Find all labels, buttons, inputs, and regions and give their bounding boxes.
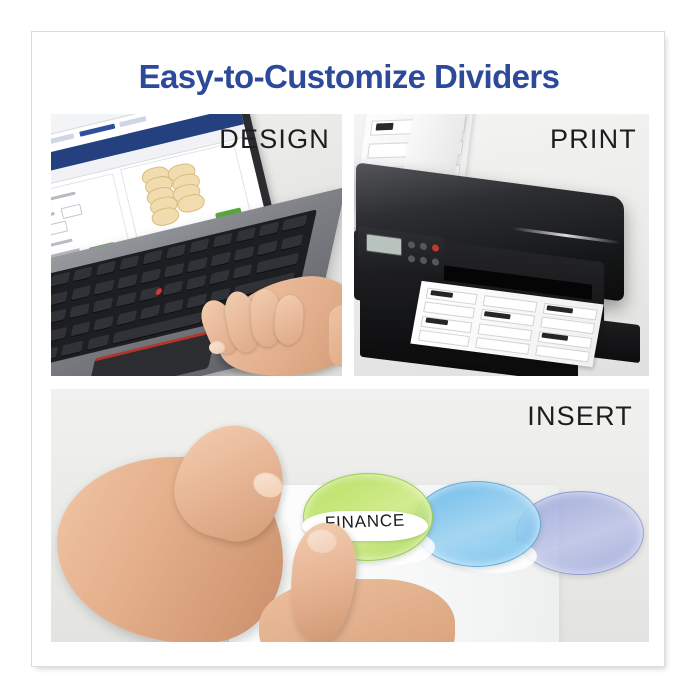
page-title: Easy-to-Customize Dividers [32,58,666,96]
hand-on-trackpad [179,269,342,376]
panel-insert[interactable]: FINANCE INSERT [51,389,649,642]
photo-grid: DESIGN [51,114,649,642]
product-image-page: Easy-to-Customize Dividers [0,0,700,700]
caption-insert: INSERT [527,401,633,432]
product-card: Easy-to-Customize Dividers [31,31,665,667]
printer-lcd-display [366,233,402,256]
panel-design[interactable]: DESIGN [51,114,342,376]
caption-print: PRINT [550,124,637,155]
right-hand [249,517,461,642]
wrist [329,305,342,367]
fingernail [209,341,225,354]
caption-design: DESIGN [219,124,330,155]
panel-print[interactable]: PRINT [354,114,649,376]
right-hand-palm [259,579,455,642]
